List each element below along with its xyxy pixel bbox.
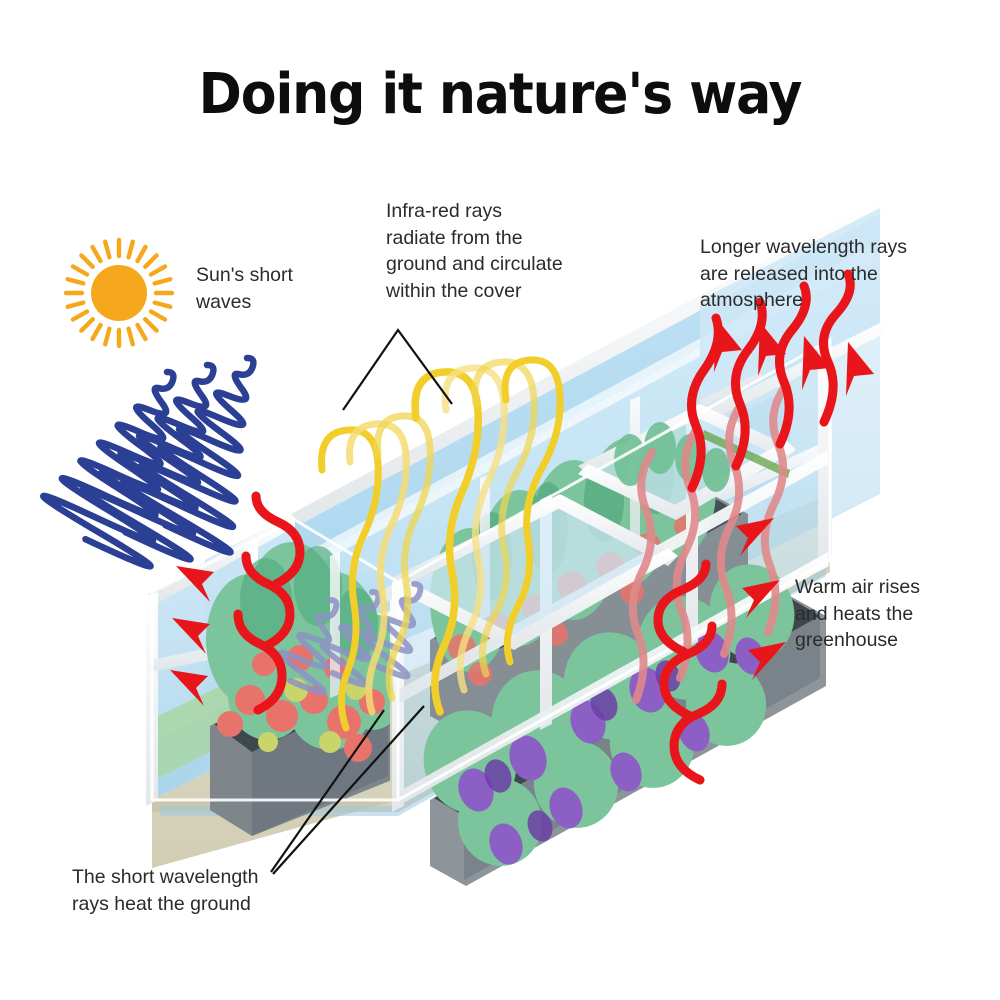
infographic-canvas: Doing it nature's way (0, 0, 1000, 1000)
callout-short-wavelength-ground: The short wavelength rays heat the groun… (72, 864, 258, 917)
callout-infra-red: Infra-red rays radiate from the ground a… (386, 198, 563, 304)
callout-sun-waves: Sun's short waves (196, 262, 293, 315)
greenhouse-effect-diagram (0, 0, 1000, 1000)
callout-warm-air: Warm air rises and heats the greenhouse (795, 574, 920, 654)
sun-icon (66, 240, 172, 346)
callout-longer-wavelength: Longer wavelength rays are released into… (700, 234, 907, 314)
